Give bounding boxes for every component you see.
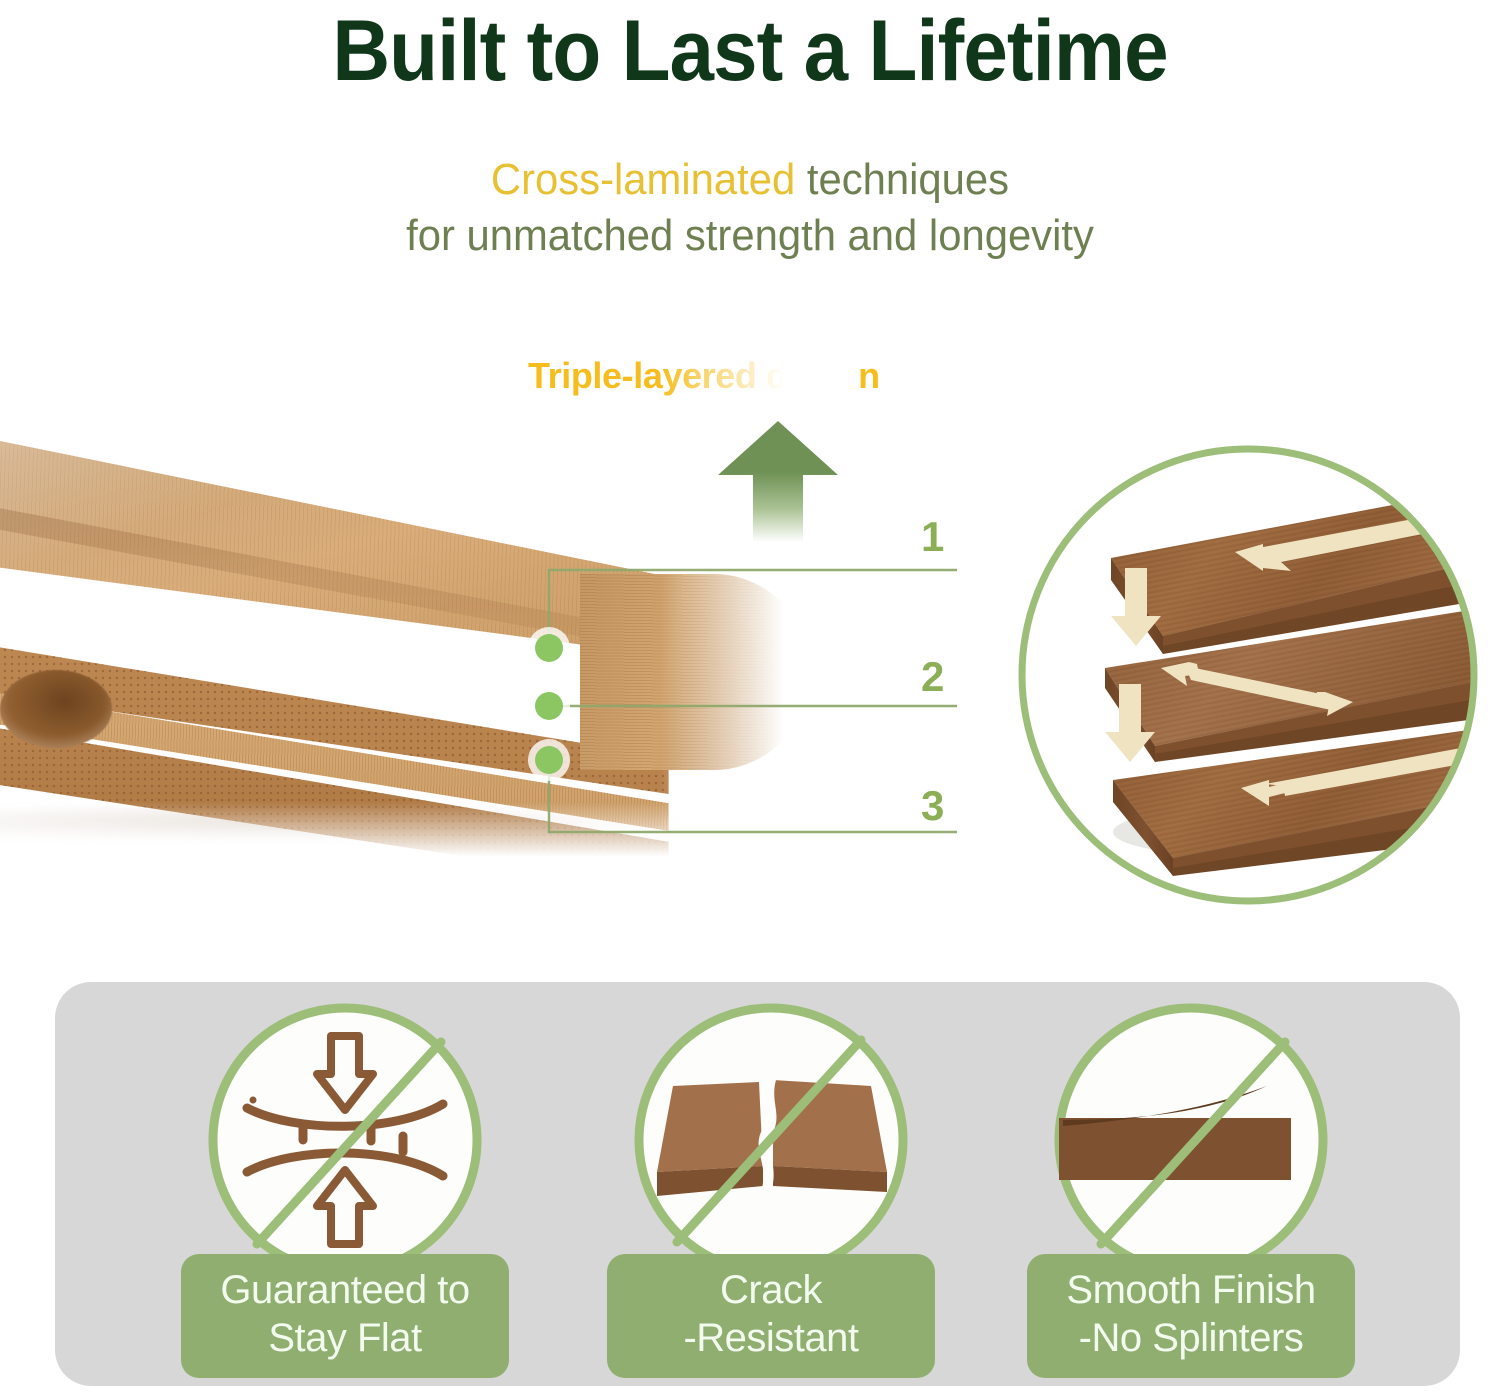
subtitle-line2: for unmatched strength and longevity: [38, 208, 1463, 264]
feature-label-crack-resistant: Crack -Resistant: [607, 1254, 935, 1378]
feature-panel: Guaranteed to Stay Flat: [55, 982, 1460, 1386]
handle-hole: [0, 670, 112, 748]
page-subtitle: Cross-laminated techniques for unmatched…: [38, 152, 1463, 264]
feature-label-stay-flat: Guaranteed to Stay Flat: [181, 1254, 509, 1378]
up-arrow-icon: [714, 418, 842, 542]
feature-card-crack-resistant[interactable]: Crack -Resistant: [601, 1000, 941, 1370]
subtitle-accent-text: Cross-laminated: [491, 155, 795, 204]
board-half-right: [773, 1080, 887, 1192]
wood-slab: [1059, 1118, 1291, 1180]
triple-layer-grain-diagram: [1013, 440, 1483, 910]
feature-card-stay-flat[interactable]: Guaranteed to Stay Flat: [175, 1000, 515, 1370]
no-crack-icon: [631, 1000, 911, 1280]
no-warp-icon: [205, 1000, 485, 1280]
callout-number-2: 2: [921, 653, 944, 701]
board-half-left: [657, 1082, 763, 1196]
infographic-page: Built to Last a Lifetime Cross-laminated…: [0, 0, 1500, 1396]
feature-label-smooth-finish: Smooth Finish -No Splinters: [1027, 1254, 1355, 1378]
feature-card-smooth-finish[interactable]: Smooth Finish -No Splinters: [1021, 1000, 1361, 1370]
photo-fade-bottom: [0, 802, 860, 872]
callout-number-1: 1: [921, 513, 944, 561]
callout-number-3: 3: [921, 782, 944, 830]
page-title: Built to Last a Lifetime: [53, 2, 1448, 101]
subtitle-line1-rest: techniques: [795, 155, 1009, 204]
no-splinter-icon: [1051, 1000, 1331, 1280]
